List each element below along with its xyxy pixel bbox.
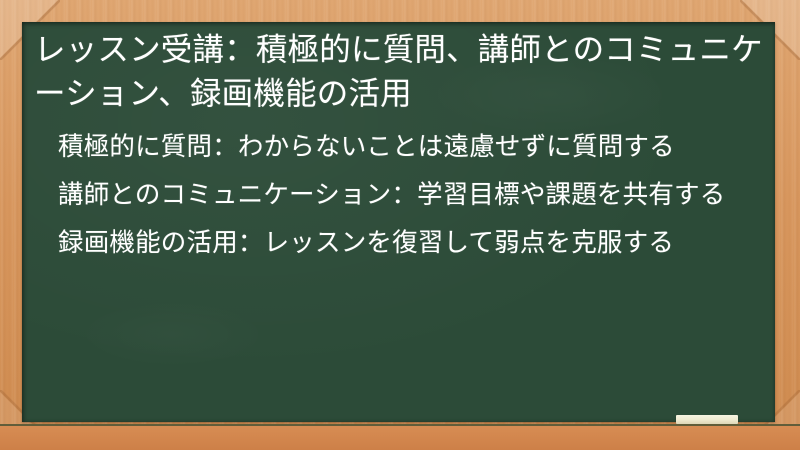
bullet-list: 積極的に質問：わからないことは遠慮せずに質問する 講師とのコミュニケーション：学… bbox=[34, 130, 764, 260]
chalk-stick bbox=[676, 415, 738, 424]
chalkboard-surface: レッスン受講：積極的に質問、講師とのコミュニケーション、録画機能の活用 積極的に… bbox=[22, 22, 775, 422]
list-item: 録画機能の活用：レッスンを復習して弱点を克服する bbox=[58, 226, 764, 260]
ledge-shadow-line bbox=[0, 424, 800, 426]
chalk-ledge bbox=[0, 424, 800, 450]
list-item: 講師とのコミュニケーション：学習目標や課題を共有する bbox=[58, 178, 764, 212]
list-item: 積極的に質問：わからないことは遠慮せずに質問する bbox=[58, 130, 764, 164]
slide-content: レッスン受講：積極的に質問、講師とのコミュニケーション、録画機能の活用 積極的に… bbox=[34, 28, 764, 260]
slide-title: レッスン受講：積極的に質問、講師とのコミュニケーション、録画機能の活用 bbox=[34, 28, 764, 116]
chalkboard-slide: レッスン受講：積極的に質問、講師とのコミュニケーション、録画機能の活用 積極的に… bbox=[0, 0, 800, 450]
